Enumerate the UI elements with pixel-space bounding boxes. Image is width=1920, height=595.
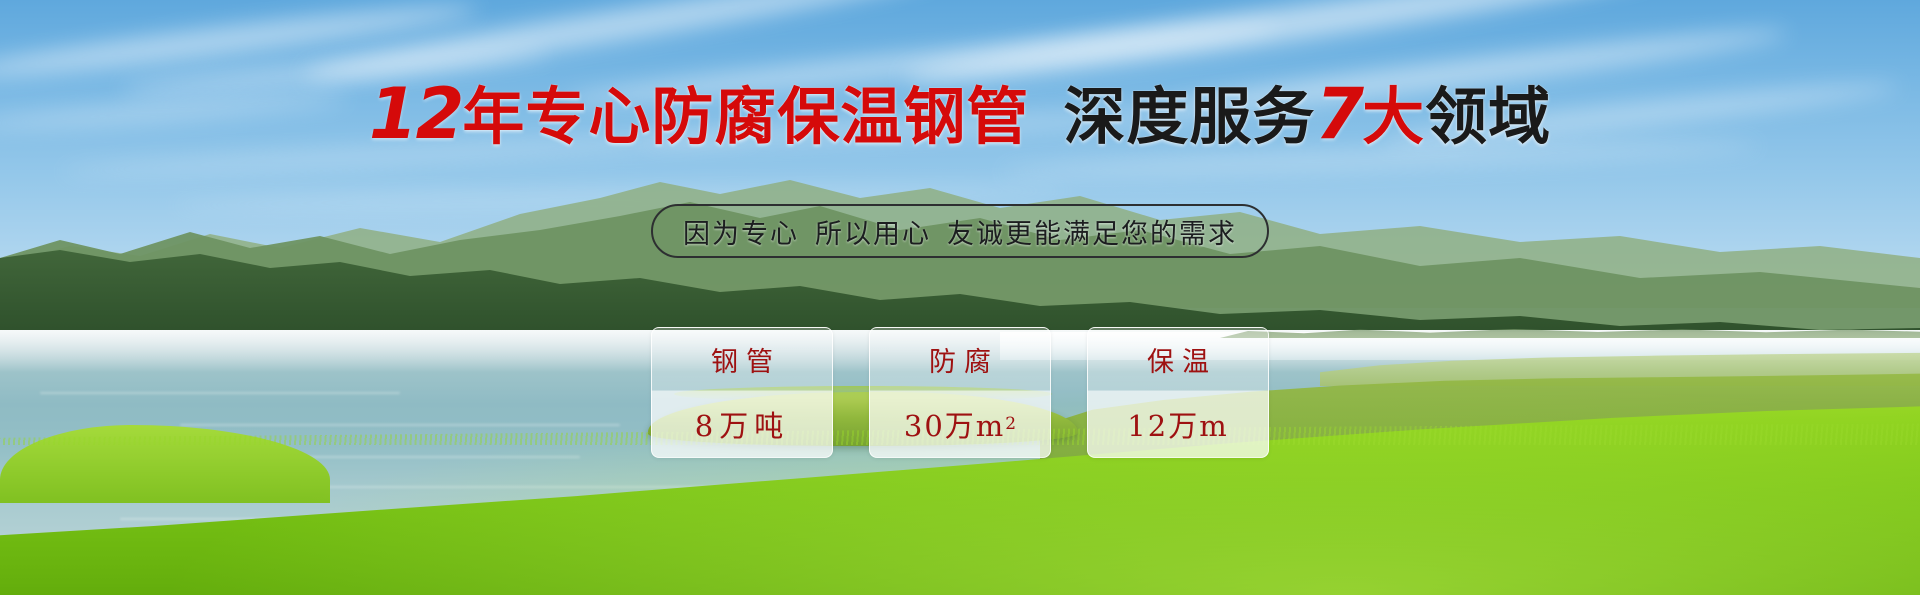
stat-card-title: 钢管 [703,328,781,391]
stat-card-gangguan[interactable]: 钢管 8万吨 [651,327,833,458]
subtitle-seg-1: 因为专心 [683,212,799,251]
stat-card-title: 保温 [1139,328,1217,391]
subtitle-seg-3: 友诚更能满足您的需求 [947,212,1237,251]
stat-card-baowen[interactable]: 保温 12万m [1087,327,1269,458]
stat-card-value: 30万m2 [904,391,1016,457]
subtitle-pill: 因为专心 所以用心 友诚更能满足您的需求 [651,204,1269,258]
headline-years-number: 12 [369,73,462,155]
stat-card-value: 8万吨 [695,391,789,457]
stat-value-text: 30万m [904,403,1005,445]
headline-da-char: 大 [1362,80,1425,153]
stat-value-text: 12万m [1127,403,1228,445]
stat-card-title: 防腐 [921,328,999,391]
headline-fields-number: 7 [1315,73,1362,155]
stat-card-group: 钢管 8万吨 防腐 30万m2 保温 12万m [651,327,1269,458]
headline: 12年专心防腐保温钢管深度服务7大领域 [0,82,1920,149]
stat-card-value: 12万m [1127,391,1228,457]
water-ripple [180,424,620,426]
water-ripple [40,392,400,394]
stat-value-text: 8万吨 [695,403,789,445]
stat-card-fangfu[interactable]: 防腐 30万m2 [869,327,1051,458]
promo-banner: 12年专心防腐保温钢管深度服务7大领域 因为专心 所以用心 友诚更能满足您的需求… [0,0,1920,595]
stat-value-superscript: 2 [1005,414,1016,434]
headline-part2: 深度服务 [1063,80,1315,153]
headline-year-char: 年专心防腐保温钢管 [462,80,1029,153]
subtitle-seg-2: 所以用心 [815,212,931,251]
headline-part3: 领域 [1425,80,1551,153]
